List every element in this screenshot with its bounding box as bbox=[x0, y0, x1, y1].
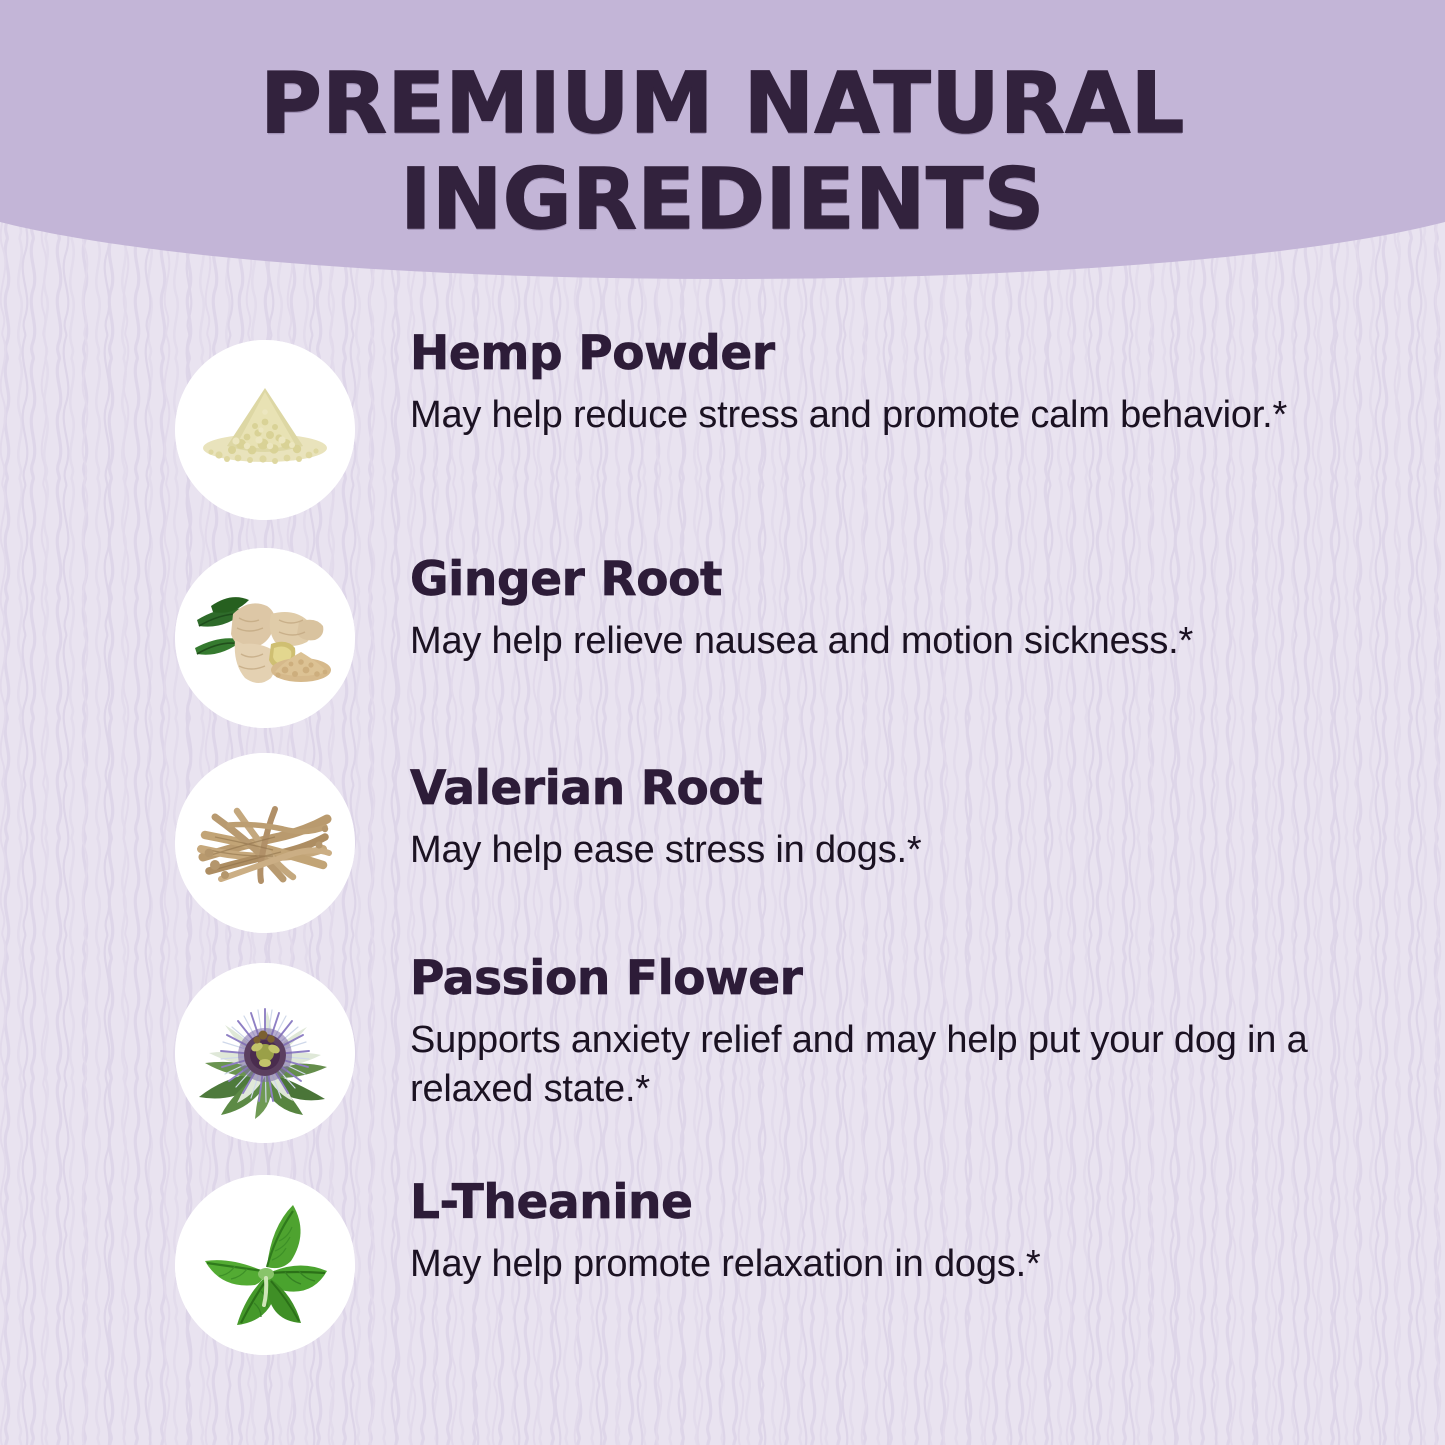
ingredient-name: Ginger Root bbox=[410, 556, 1193, 603]
hemp-powder-icon bbox=[175, 340, 355, 520]
ingredient-name: L-Theanine bbox=[410, 1179, 1041, 1226]
hemp-powder-thumbnail bbox=[175, 340, 355, 520]
ingredient-name: Passion Flower bbox=[410, 955, 1350, 1002]
ingredient-name: Hemp Powder bbox=[410, 330, 1287, 377]
page-title: PREMIUM NATURAL INGREDIENTS bbox=[0, 56, 1445, 248]
ingredient-text-block: Passion Flower Supports anxiety relief a… bbox=[410, 941, 1350, 1115]
passion-flower-thumbnail bbox=[175, 963, 355, 1143]
list-item: Hemp Powder May help reduce stress and p… bbox=[0, 318, 1445, 526]
ingredient-name: Valerian Root bbox=[410, 765, 922, 812]
list-item: Passion Flower Supports anxiety relief a… bbox=[0, 941, 1445, 1153]
list-item: Ginger Root May help relieve nausea and … bbox=[0, 526, 1445, 731]
ingredient-description: May help ease stress in dogs.* bbox=[410, 826, 922, 875]
valerian-root-thumbnail bbox=[175, 753, 355, 933]
page-title-line-2: INGREDIENTS bbox=[0, 152, 1445, 248]
header-banner: PREMIUM NATURAL INGREDIENTS bbox=[0, 0, 1445, 300]
list-item: Valerian Root May help ease stress in do… bbox=[0, 731, 1445, 941]
list-item: L-Theanine May help promote relaxation i… bbox=[0, 1153, 1445, 1361]
ingredient-text-block: Ginger Root May help relieve nausea and … bbox=[410, 526, 1193, 666]
ingredient-description: May help promote relaxation in dogs.* bbox=[410, 1240, 1041, 1289]
ingredients-list: Hemp Powder May help reduce stress and p… bbox=[0, 318, 1445, 1361]
ginger-root-icon bbox=[175, 548, 355, 728]
ingredient-text-block: Valerian Root May help ease stress in do… bbox=[410, 731, 922, 875]
l-theanine-thumbnail bbox=[175, 1175, 355, 1355]
ingredient-text-block: L-Theanine May help promote relaxation i… bbox=[410, 1153, 1041, 1289]
ingredient-description: Supports anxiety relief and may help put… bbox=[410, 1016, 1350, 1115]
ingredient-description: May help reduce stress and promote calm … bbox=[410, 391, 1287, 440]
valerian-root-icon bbox=[175, 753, 355, 933]
ingredient-text-block: Hemp Powder May help reduce stress and p… bbox=[410, 318, 1287, 440]
l-theanine-leaves-icon bbox=[175, 1175, 355, 1355]
ingredient-description: May help relieve nausea and motion sickn… bbox=[410, 617, 1193, 666]
ginger-root-thumbnail bbox=[175, 548, 355, 728]
passion-flower-icon bbox=[175, 963, 355, 1143]
infographic-page: PREMIUM NATURAL INGREDIENTS bbox=[0, 0, 1445, 1445]
page-title-line-1: PREMIUM NATURAL bbox=[260, 54, 1185, 152]
